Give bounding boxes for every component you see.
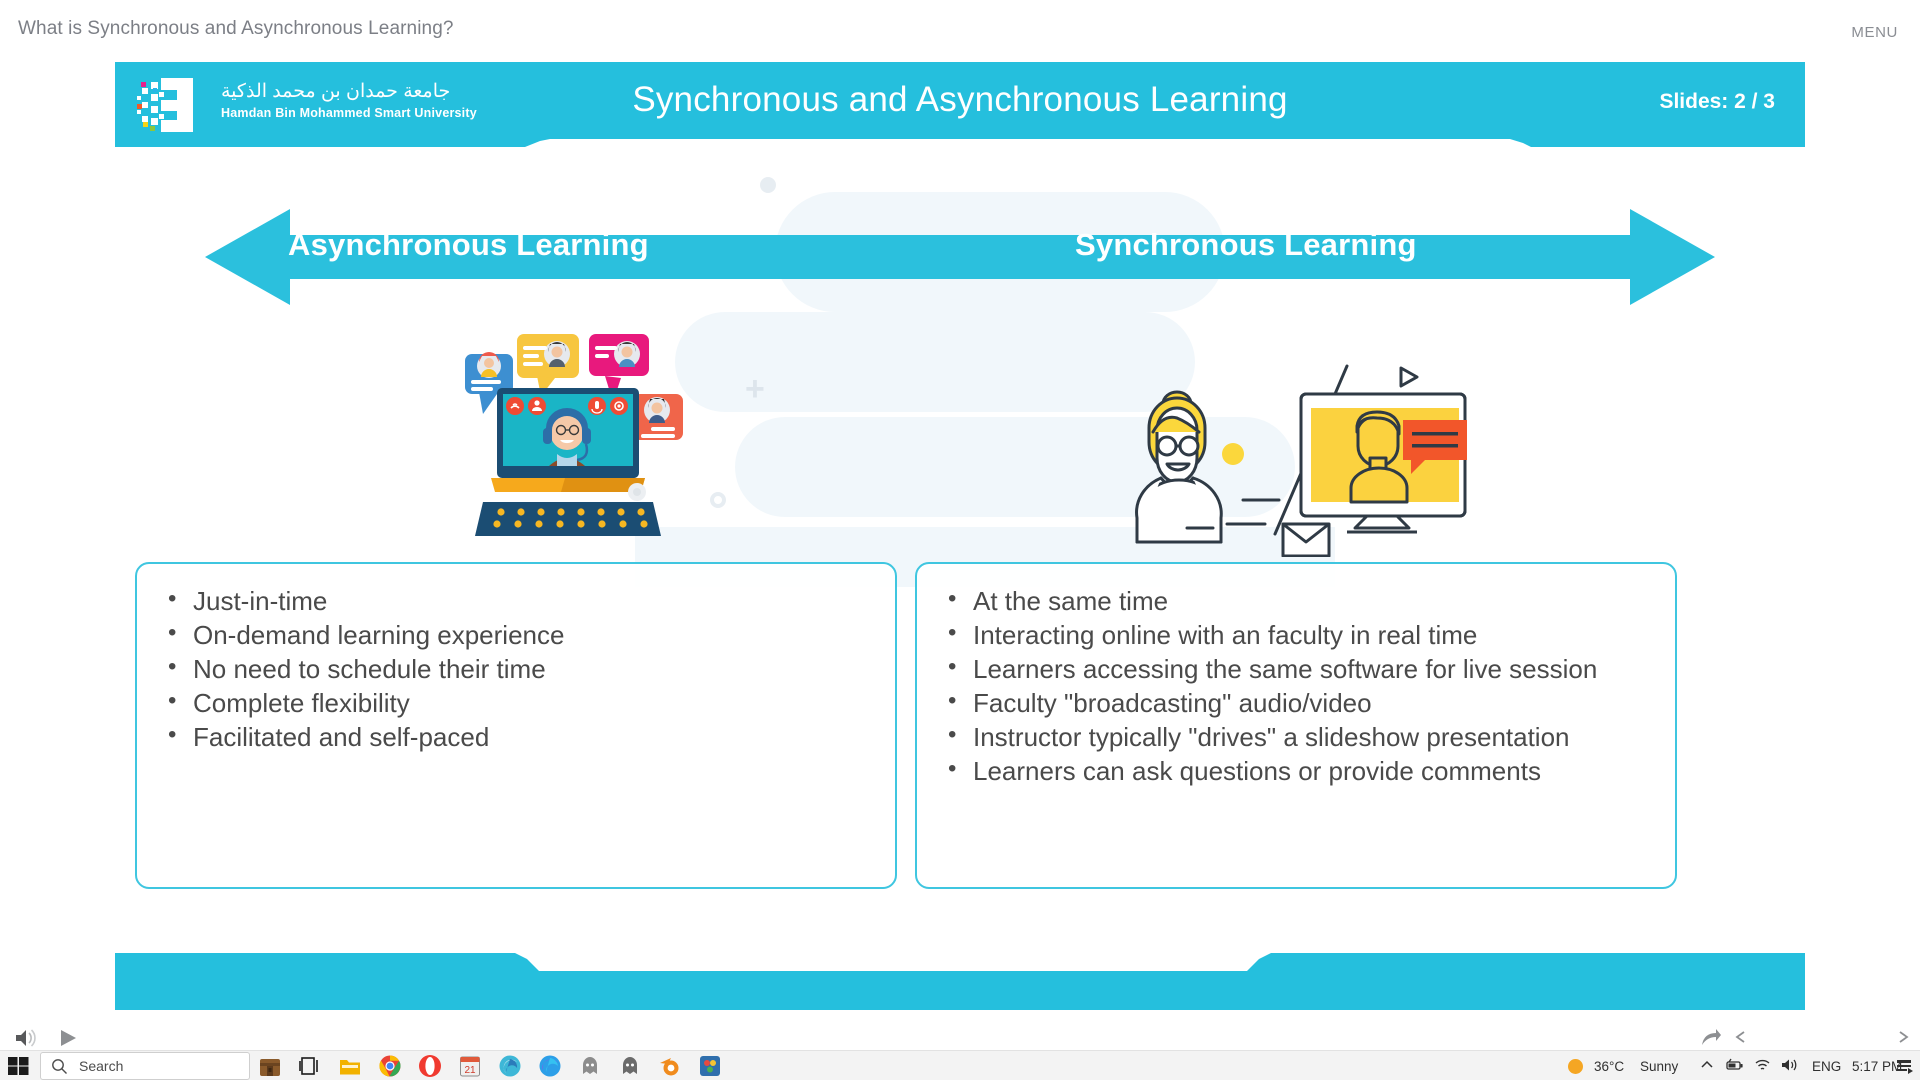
asynchronous-illustration — [445, 332, 705, 542]
list-item: Instructor typically "drives" a slidesho… — [943, 722, 1649, 753]
wifi-icon[interactable] — [1754, 1058, 1771, 1072]
chevron-up-icon[interactable] — [1700, 1058, 1714, 1072]
list-item: Complete flexibility — [163, 688, 869, 719]
list-item: On-demand learning experience — [163, 620, 869, 651]
blender-icon[interactable] — [658, 1054, 682, 1078]
asynchronous-bullet-list: Just-in-time On-demand learning experien… — [163, 586, 869, 753]
footer-shape-icon — [115, 937, 1805, 1010]
slide-title: Synchronous and Asynchronous Learning — [115, 80, 1805, 120]
slides-counter: Slides: 2 / 3 — [1659, 90, 1775, 114]
search-icon — [51, 1058, 68, 1075]
page-top-bar: What is Synchronous and Asynchronous Lea… — [0, 0, 1920, 58]
list-item: Learners accessing the same software for… — [943, 654, 1649, 685]
synchronous-illustration — [1115, 352, 1505, 557]
decor-plus-icon: + — [745, 372, 765, 406]
input-language[interactable]: ENG — [1812, 1059, 1841, 1074]
play-icon[interactable] — [58, 1028, 78, 1048]
decor-ring-icon — [710, 492, 726, 508]
screen: What is Synchronous and Asynchronous Lea… — [0, 0, 1920, 1080]
decor-dot-icon — [760, 177, 776, 193]
synchronous-bullet-list: At the same time Interacting online with… — [943, 586, 1649, 787]
list-item: Interacting online with an faculty in re… — [943, 620, 1649, 651]
slide-footer — [115, 937, 1805, 1010]
google-chrome-icon[interactable] — [378, 1054, 402, 1078]
file-explorer-icon[interactable] — [338, 1054, 362, 1078]
slide-canvas[interactable]: + — [115, 62, 1805, 1010]
list-item: At the same time — [943, 586, 1649, 617]
slide-header: جامعة حمدان بن محمد الذكية Hamdan Bin Mo… — [115, 62, 1805, 147]
opera-icon[interactable] — [418, 1054, 442, 1078]
ghost-app-icon[interactable] — [578, 1054, 602, 1078]
list-item: Faculty "broadcasting" audio/video — [943, 688, 1649, 719]
calendar-icon[interactable]: 21 — [458, 1054, 482, 1078]
search-placeholder-label: Search — [79, 1058, 123, 1074]
weather-sun-icon[interactable] — [1568, 1059, 1583, 1074]
chevron-right-icon[interactable] — [1896, 1030, 1910, 1044]
weather-condition: Sunny — [1640, 1059, 1678, 1074]
windows-taskbar: Search — [0, 1050, 1920, 1080]
task-view-icon[interactable] — [298, 1054, 322, 1078]
laptop-video-call-icon — [445, 332, 705, 542]
search-input[interactable]: Search — [40, 1052, 250, 1080]
volume-icon[interactable] — [14, 1028, 38, 1048]
edge-legacy-icon[interactable] — [498, 1054, 522, 1078]
volume-tray-icon[interactable] — [1781, 1058, 1799, 1072]
chest-app-icon[interactable] — [258, 1054, 282, 1078]
list-item: Just-in-time — [163, 586, 869, 617]
microsoft-edge-icon[interactable] — [538, 1054, 562, 1078]
list-item: Learners can ask questions or provide co… — [943, 756, 1649, 787]
synchronous-bullets-box: At the same time Interacting online with… — [915, 562, 1677, 889]
list-item: No need to schedule their time — [163, 654, 869, 685]
svg-text:21: 21 — [464, 1065, 476, 1076]
asynchronous-label: Asynchronous Learning — [288, 227, 649, 263]
direction-arrow-banner: Asynchronous Learning Synchronous Learni… — [115, 197, 1805, 317]
ghost-app-2-icon[interactable] — [618, 1054, 642, 1078]
menu-button[interactable]: MENU — [1851, 24, 1898, 41]
apps-grid-icon[interactable] — [698, 1054, 722, 1078]
synchronous-label: Synchronous Learning — [1075, 227, 1417, 263]
clock[interactable]: 5:17 PM — [1852, 1059, 1902, 1074]
asynchronous-bullets-box: Just-in-time On-demand learning experien… — [135, 562, 897, 889]
page-title: What is Synchronous and Asynchronous Lea… — [18, 18, 454, 40]
notifications-icon[interactable] — [1896, 1058, 1914, 1074]
media-player-bar: PREV NEXT — [0, 1012, 1920, 1050]
weather-temperature: 36°C — [1594, 1059, 1624, 1074]
instructor-monitor-icon — [1115, 352, 1505, 557]
battery-icon[interactable] — [1726, 1058, 1744, 1072]
start-button-icon[interactable] — [8, 1056, 30, 1076]
list-item: Facilitated and self-paced — [163, 722, 869, 753]
share-icon[interactable] — [1700, 1028, 1722, 1048]
chevron-left-icon[interactable] — [1734, 1030, 1748, 1044]
